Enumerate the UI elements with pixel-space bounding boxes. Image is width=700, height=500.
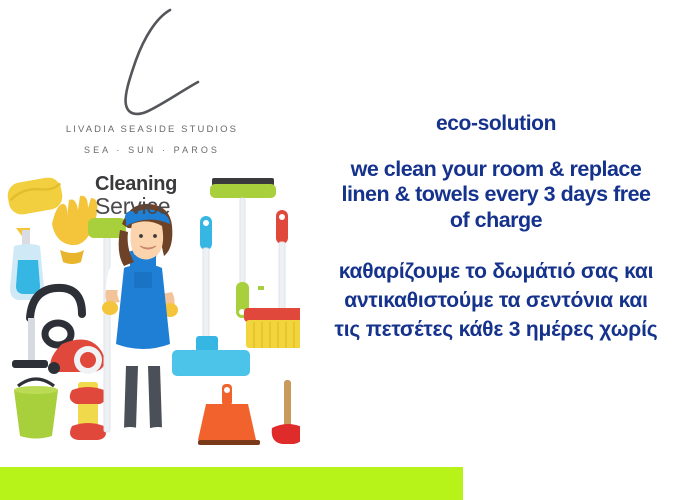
greek-promo-text: καθαρίζουμε το δωμάτιό σας και αντικαθισ…: [296, 258, 696, 345]
sponge-icon: [6, 176, 65, 217]
greek-promo-line: αντικαθιστούμε τα σεντόνια και: [296, 287, 696, 316]
cleaning-woman-icon: [102, 204, 182, 437]
brand-name: LIVADIA SEASIDE STUDIOS: [52, 124, 252, 135]
script-letter-l-icon: [52, 4, 252, 122]
greek-promo-line: τις πετσέτες κάθε 3 ημέρες χωρίς: [296, 316, 696, 345]
english-promo-line: of charge: [296, 208, 696, 233]
push-broom-icon: [244, 210, 300, 348]
greek-promo-line: καθαρίζουμε το δωμάτιό σας και: [296, 258, 696, 287]
plunger-icon: [272, 380, 300, 444]
bucket-icon: [14, 379, 58, 439]
dustpan-icon: [198, 384, 260, 445]
vacuum-cleaner-icon: [12, 288, 105, 374]
cleaning-service-poster: LIVADIA SEASIDE STUDIOS SEA · SUN · PARO…: [0, 0, 700, 500]
footer-accent-bar: [0, 467, 463, 500]
brand-logo-block: LIVADIA SEASIDE STUDIOS SEA · SUN · PARO…: [52, 4, 252, 164]
brand-tagline: SEA · SUN · PAROS: [52, 145, 252, 155]
english-promo-line: we clean your room & replace: [296, 157, 696, 182]
detergent-bottle-icon: [70, 382, 107, 440]
scrub-brush-icon: [258, 286, 264, 290]
service-headline-line2: Service: [95, 194, 255, 218]
service-headline-line1: Cleaning: [95, 174, 255, 194]
spray-bottle-icon: [10, 228, 44, 300]
service-headline: Cleaning Service: [95, 174, 255, 218]
english-promo-text: we clean your room & replace linen & tow…: [296, 157, 696, 233]
eco-solution-heading: eco-solution: [296, 112, 696, 135]
english-promo-line: linen & towels every 3 days free: [296, 182, 696, 207]
promo-copy-panel: eco-solution we clean your room & replac…: [296, 112, 696, 345]
